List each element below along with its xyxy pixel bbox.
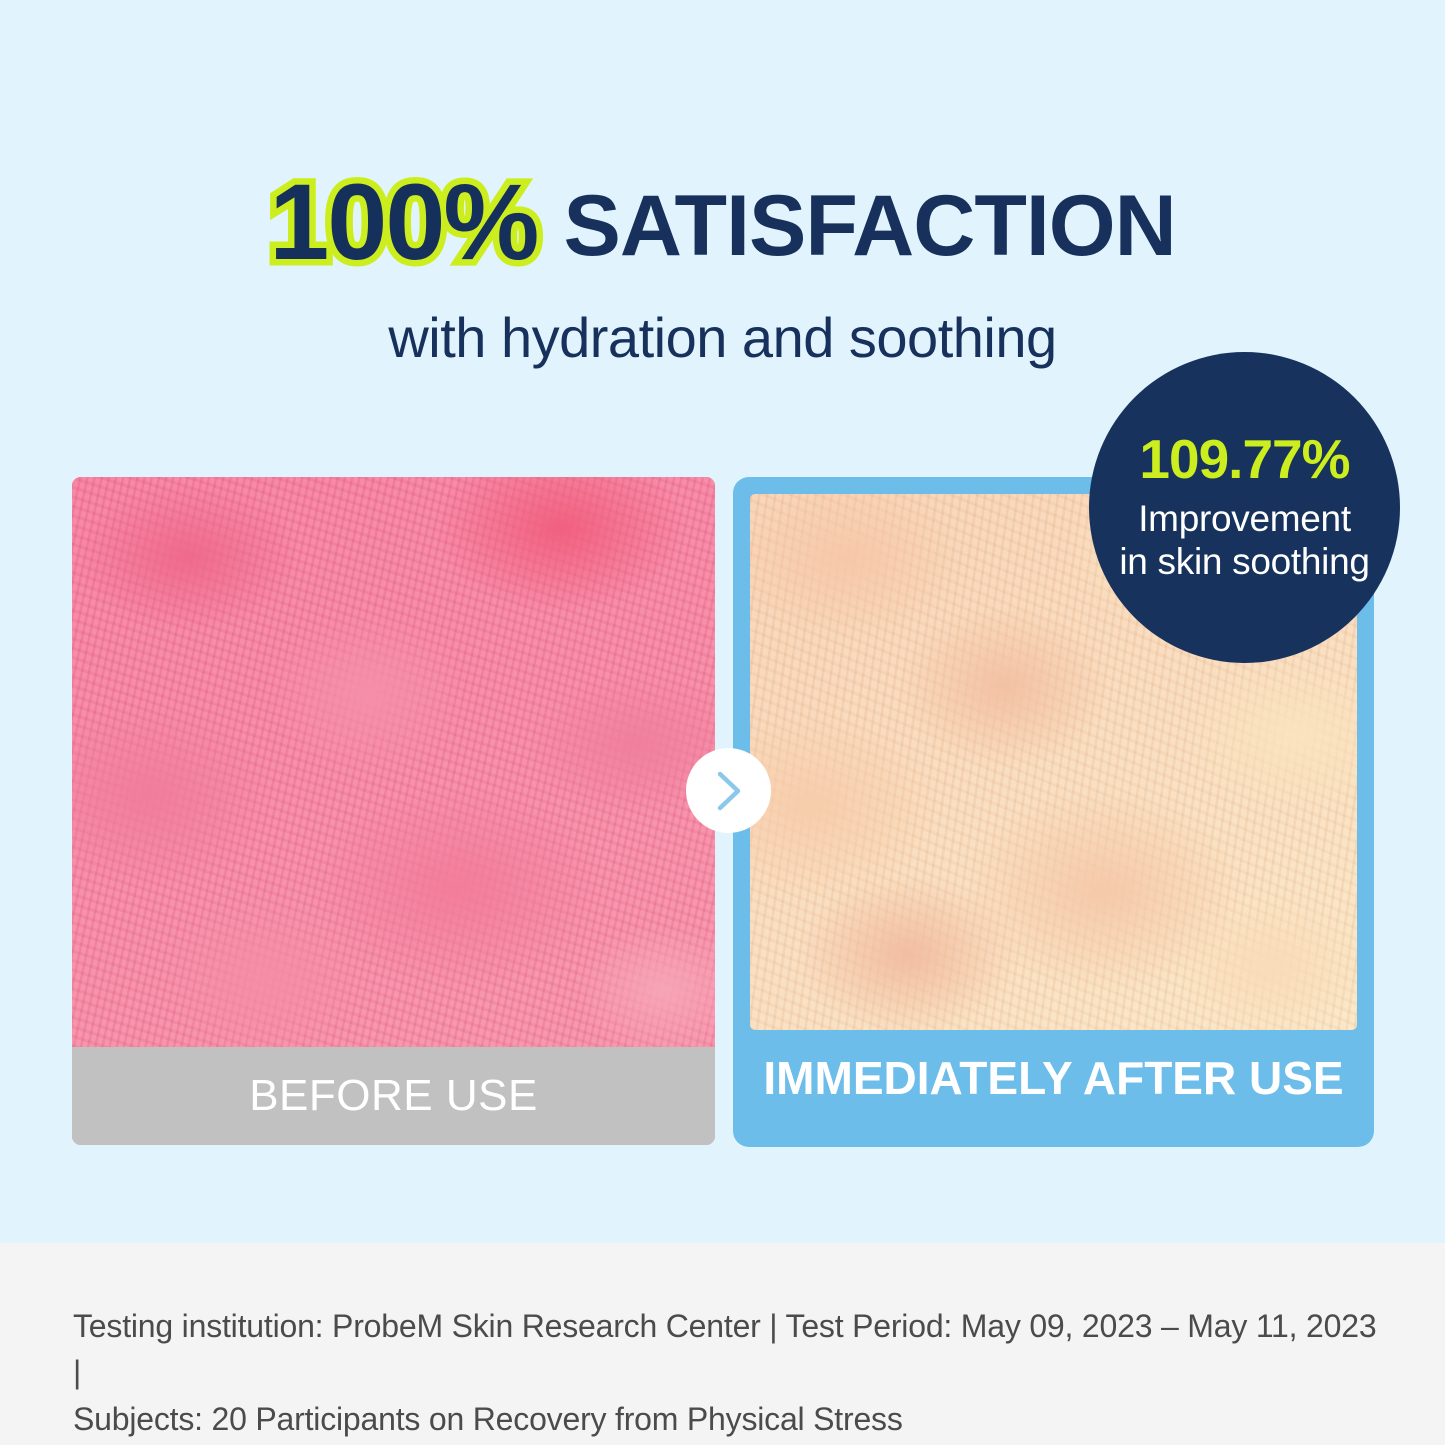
study-disclaimer: Testing institution: ProbeM Skin Researc… bbox=[73, 1303, 1393, 1442]
before-skin-image bbox=[72, 477, 715, 1047]
result-badge: 109.77% Improvement in skin soothing bbox=[1089, 352, 1400, 663]
badge-percent: 109.77% bbox=[1139, 432, 1349, 487]
chevron-right-icon bbox=[712, 769, 746, 813]
headline: 100%SATISFACTION bbox=[0, 168, 1445, 276]
headline-word: SATISFACTION bbox=[563, 178, 1175, 274]
headline-percent: 100% bbox=[269, 161, 537, 282]
promo-page: 100%SATISFACTION with hydration and soot… bbox=[0, 0, 1445, 1445]
hero-stage: 100%SATISFACTION with hydration and soot… bbox=[0, 0, 1445, 1243]
badge-line-2: in skin soothing bbox=[1119, 541, 1369, 584]
before-caption-bar: BEFORE USE bbox=[72, 1047, 715, 1145]
disclaimer-line-2: Subjects: 20 Participants on Recovery fr… bbox=[73, 1396, 1393, 1442]
comparison-arrow-button[interactable] bbox=[686, 748, 771, 833]
disclaimer-line-1: Testing institution: ProbeM Skin Researc… bbox=[73, 1303, 1393, 1396]
badge-line-1: Improvement bbox=[1138, 498, 1351, 541]
before-caption-label: BEFORE USE bbox=[249, 1071, 538, 1121]
footer-bar: Testing institution: ProbeM Skin Researc… bbox=[0, 1243, 1445, 1445]
before-panel: BEFORE USE bbox=[72, 477, 715, 1145]
after-caption-bar: IMMEDIATELY AFTER USE bbox=[750, 1030, 1357, 1126]
after-caption-label: IMMEDIATELY AFTER USE bbox=[763, 1051, 1343, 1105]
